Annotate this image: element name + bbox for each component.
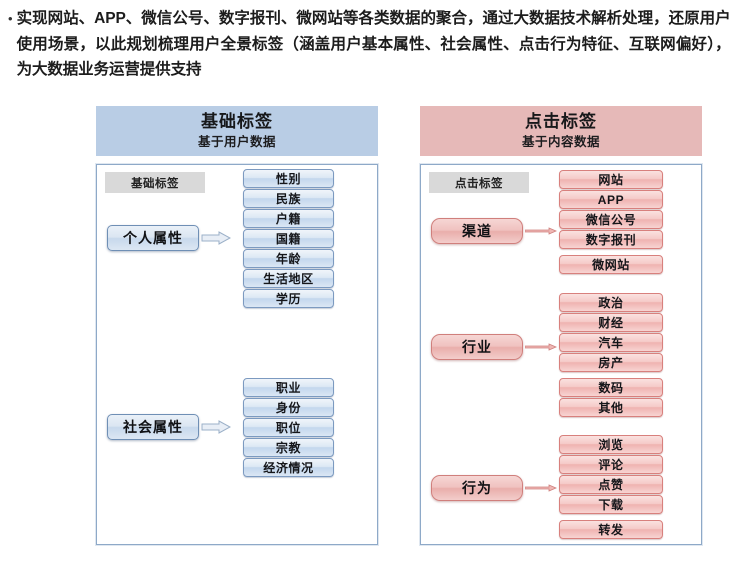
tag-pill[interactable]: 生活地区: [243, 269, 334, 288]
open-arrow-right-icon: [199, 225, 233, 251]
bullet-icon: •: [8, 6, 13, 31]
open-arrow-right-icon: [199, 414, 233, 440]
banner-click-tags: 点击标签 基于内容数据: [420, 106, 702, 156]
group-behavior: 行为: [431, 475, 559, 501]
tag-pill[interactable]: 性别: [243, 169, 334, 188]
tag-pill[interactable]: 财经: [559, 313, 663, 332]
tag-pill[interactable]: 国籍: [243, 229, 334, 248]
group-label-channel[interactable]: 渠道: [431, 218, 523, 244]
tag-pill[interactable]: 经济情况: [243, 458, 334, 477]
tag-pill[interactable]: 政治: [559, 293, 663, 312]
tag-pill[interactable]: 民族: [243, 189, 334, 208]
thin-arrow-right-icon: [523, 475, 559, 501]
group-personal-attributes: 个人属性: [107, 225, 233, 251]
tag-pill[interactable]: 其他: [559, 398, 663, 417]
tag-pill[interactable]: 网站: [559, 170, 663, 189]
panel-click-tags: 点击标签 渠道 网站 APP 微信公号 数字报刊 微网站 行业: [420, 164, 702, 545]
banner-subtitle: 基于用户数据: [97, 133, 377, 151]
tag-pill[interactable]: 身份: [243, 398, 334, 417]
stack-channel: 网站 APP 微信公号 数字报刊 微网站: [559, 170, 663, 275]
stack-social-attributes: 职业 身份 职位 宗教 经济情况: [243, 378, 334, 478]
thin-arrow-right-icon: [523, 218, 559, 244]
banner-subtitle: 基于内容数据: [421, 133, 701, 151]
group-label-behavior[interactable]: 行为: [431, 475, 523, 501]
tag-pill[interactable]: 汽车: [559, 333, 663, 352]
group-label-social-attributes[interactable]: 社会属性: [107, 414, 199, 440]
group-channel: 渠道: [431, 218, 559, 244]
group-industry: 行业: [431, 334, 559, 360]
panel-tag-label: 点击标签: [429, 172, 529, 193]
tag-pill[interactable]: 下载: [559, 495, 663, 514]
column-basic-tags: 基础标签 基于用户数据 基础标签 个人属性 性别 民族 户籍 国籍 年龄 生活地…: [96, 106, 378, 545]
tag-pill[interactable]: 微网站: [559, 255, 663, 274]
tag-pill[interactable]: 宗教: [243, 438, 334, 457]
tag-pill[interactable]: 房产: [559, 353, 663, 372]
tag-pill[interactable]: 评论: [559, 455, 663, 474]
intro-text: 实现网站、APP、微信公号、数字报刊、微网站等各类数据的聚合，通过大数据技术解析…: [17, 6, 731, 83]
tag-pill[interactable]: 转发: [559, 520, 663, 539]
thin-arrow-right-icon: [523, 334, 559, 360]
tag-pill[interactable]: APP: [559, 190, 663, 209]
stack-behavior: 浏览 评论 点赞 下载 转发: [559, 435, 663, 540]
group-label-industry[interactable]: 行业: [431, 334, 523, 360]
tag-pill[interactable]: 微信公号: [559, 210, 663, 229]
tag-pill[interactable]: 点赞: [559, 475, 663, 494]
tag-pill[interactable]: 年龄: [243, 249, 334, 268]
group-social-attributes: 社会属性: [107, 414, 233, 440]
intro-paragraph: • 实现网站、APP、微信公号、数字报刊、微网站等各类数据的聚合，通过大数据技术…: [8, 6, 744, 83]
tag-pill[interactable]: 数字报刊: [559, 230, 663, 249]
tag-pill[interactable]: 职业: [243, 378, 334, 397]
banner-basic-tags: 基础标签 基于用户数据: [96, 106, 378, 156]
panel-tag-label: 基础标签: [105, 172, 205, 193]
banner-title: 点击标签: [421, 111, 701, 133]
stack-industry: 政治 财经 汽车 房产 数码 其他: [559, 293, 663, 418]
tag-pill[interactable]: 户籍: [243, 209, 334, 228]
stack-personal-attributes: 性别 民族 户籍 国籍 年龄 生活地区 学历: [243, 169, 334, 309]
panel-basic-tags: 基础标签 个人属性 性别 民族 户籍 国籍 年龄 生活地区 学历 社会属性: [96, 164, 378, 545]
tag-pill[interactable]: 浏览: [559, 435, 663, 454]
tag-pill[interactable]: 数码: [559, 378, 663, 397]
group-label-personal-attributes[interactable]: 个人属性: [107, 225, 199, 251]
banner-title: 基础标签: [97, 111, 377, 133]
column-click-tags: 点击标签 基于内容数据 点击标签 渠道 网站 APP 微信公号 数字报刊 微网站…: [420, 106, 702, 545]
tag-pill[interactable]: 职位: [243, 418, 334, 437]
tag-pill[interactable]: 学历: [243, 289, 334, 308]
